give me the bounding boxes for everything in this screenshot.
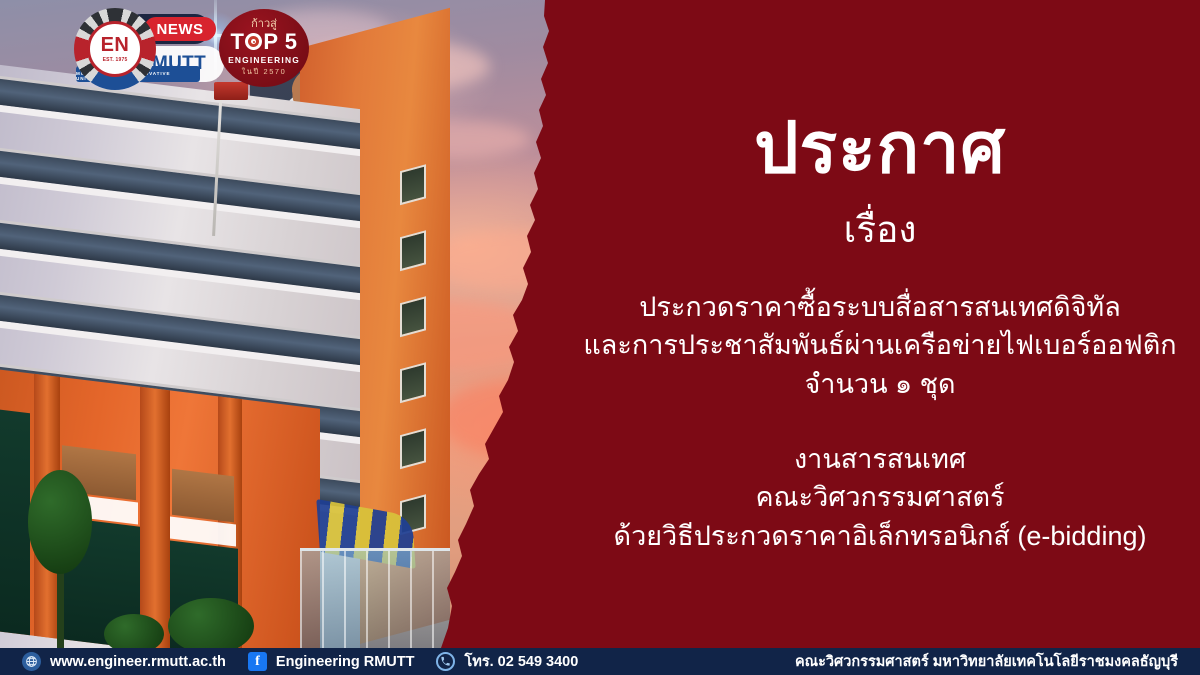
en-logo-center: EN EST. 1975 [87, 21, 143, 77]
entrance-glass-facade [300, 548, 450, 648]
announcement-body-second: งานสารสนเทศคณะวิศวกรรมศาสตร์ด้วยวิธีประก… [560, 440, 1200, 555]
subject-label: เรื่อง [560, 200, 1200, 259]
top5-rank-pre: T [230, 31, 244, 53]
facebook-icon[interactable]: f [248, 652, 267, 671]
footer-bar: www.engineer.rmutt.ac.th f Engineering R… [0, 648, 1200, 675]
footer-website[interactable]: www.engineer.rmutt.ac.th [50, 654, 226, 670]
top5-rank-post: P 5 [263, 31, 297, 53]
footer-contacts: www.engineer.rmutt.ac.th f Engineering R… [0, 650, 578, 673]
top5-year: ในปี 2570 [242, 66, 287, 78]
flag [214, 82, 248, 100]
tree [104, 614, 164, 648]
footer-organization: คณะวิศวกรรมศาสตร์ มหาวิทยาลัยเทคโนโลยีรา… [795, 650, 1200, 673]
top5-faculty: ENGINEERING [228, 55, 300, 65]
footer-phone[interactable]: โทร. 02 549 3400 [464, 650, 578, 673]
target-icon [245, 33, 262, 50]
globe-icon [22, 652, 41, 671]
footer-facebook-page[interactable]: Engineering RMUTT [276, 654, 415, 670]
top5-engineering-badge: ก้าวสู่ T P 5 ENGINEERING ในปี 2570 [219, 9, 309, 87]
en-logo-established: EST. 1975 [103, 57, 128, 63]
top5-rank: T P 5 [230, 31, 297, 53]
phone-icon [436, 652, 455, 671]
top5-prefix: ก้าวสู่ [251, 19, 277, 30]
announcement-poster: NEWS RMUTT MOVING TOWARDS INNOVATIVE UNI… [0, 0, 1200, 675]
announcement-content: ประกาศ เรื่อง ประกวดราคาซื้อระบบสื่อสารส… [560, 0, 1200, 648]
tree [28, 470, 92, 574]
announcement-body-first: ประกวดราคาซื้อระบบสื่อสารสนเทศดิจิทัลและ… [560, 288, 1200, 403]
tree [168, 598, 254, 648]
en-gear-logo-icon: EN EST. 1975 [74, 8, 156, 90]
en-logo-initials: EN [101, 35, 130, 55]
page-title: ประกาศ [560, 92, 1200, 203]
